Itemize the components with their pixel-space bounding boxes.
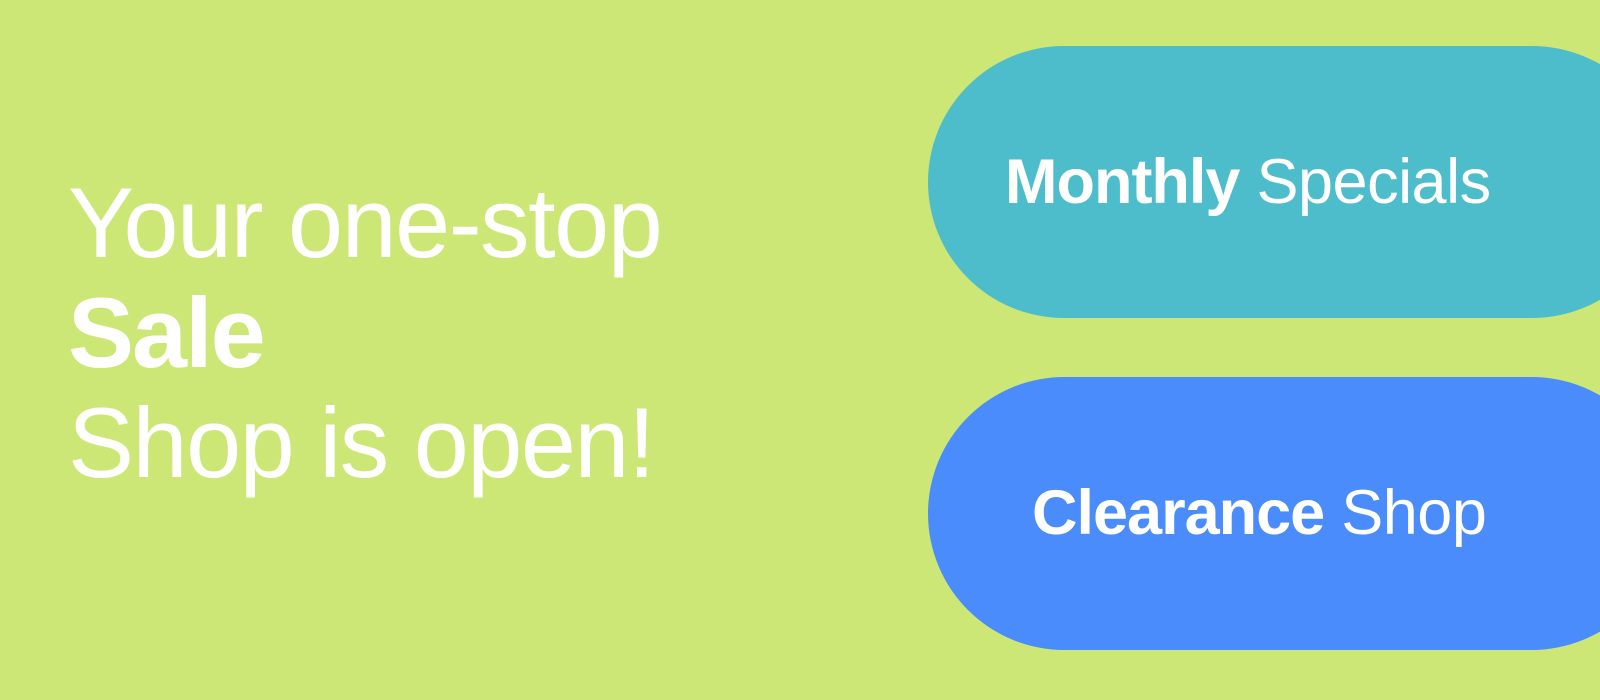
headline-line-3: Shop is open! bbox=[68, 388, 888, 498]
monthly-specials-light-word: Specials bbox=[1256, 147, 1490, 217]
promo-banner: Your one-stop Sale Shop is open! Monthly… bbox=[0, 0, 1600, 700]
headline-line-2-sale: Sale bbox=[68, 278, 888, 388]
monthly-specials-label: Monthly Specials bbox=[1005, 151, 1491, 214]
headline-line-1: Your one-stop bbox=[68, 168, 888, 278]
clearance-shop-label: Clearance Shop bbox=[1032, 482, 1486, 545]
monthly-specials-button[interactable]: Monthly Specials bbox=[928, 46, 1600, 318]
monthly-specials-strong-word: Monthly bbox=[1005, 147, 1239, 217]
clearance-shop-button[interactable]: Clearance Shop bbox=[928, 377, 1600, 650]
headline-block: Your one-stop Sale Shop is open! bbox=[68, 168, 888, 498]
clearance-shop-strong-word: Clearance bbox=[1032, 478, 1324, 548]
clearance-shop-light-word: Shop bbox=[1341, 478, 1486, 548]
